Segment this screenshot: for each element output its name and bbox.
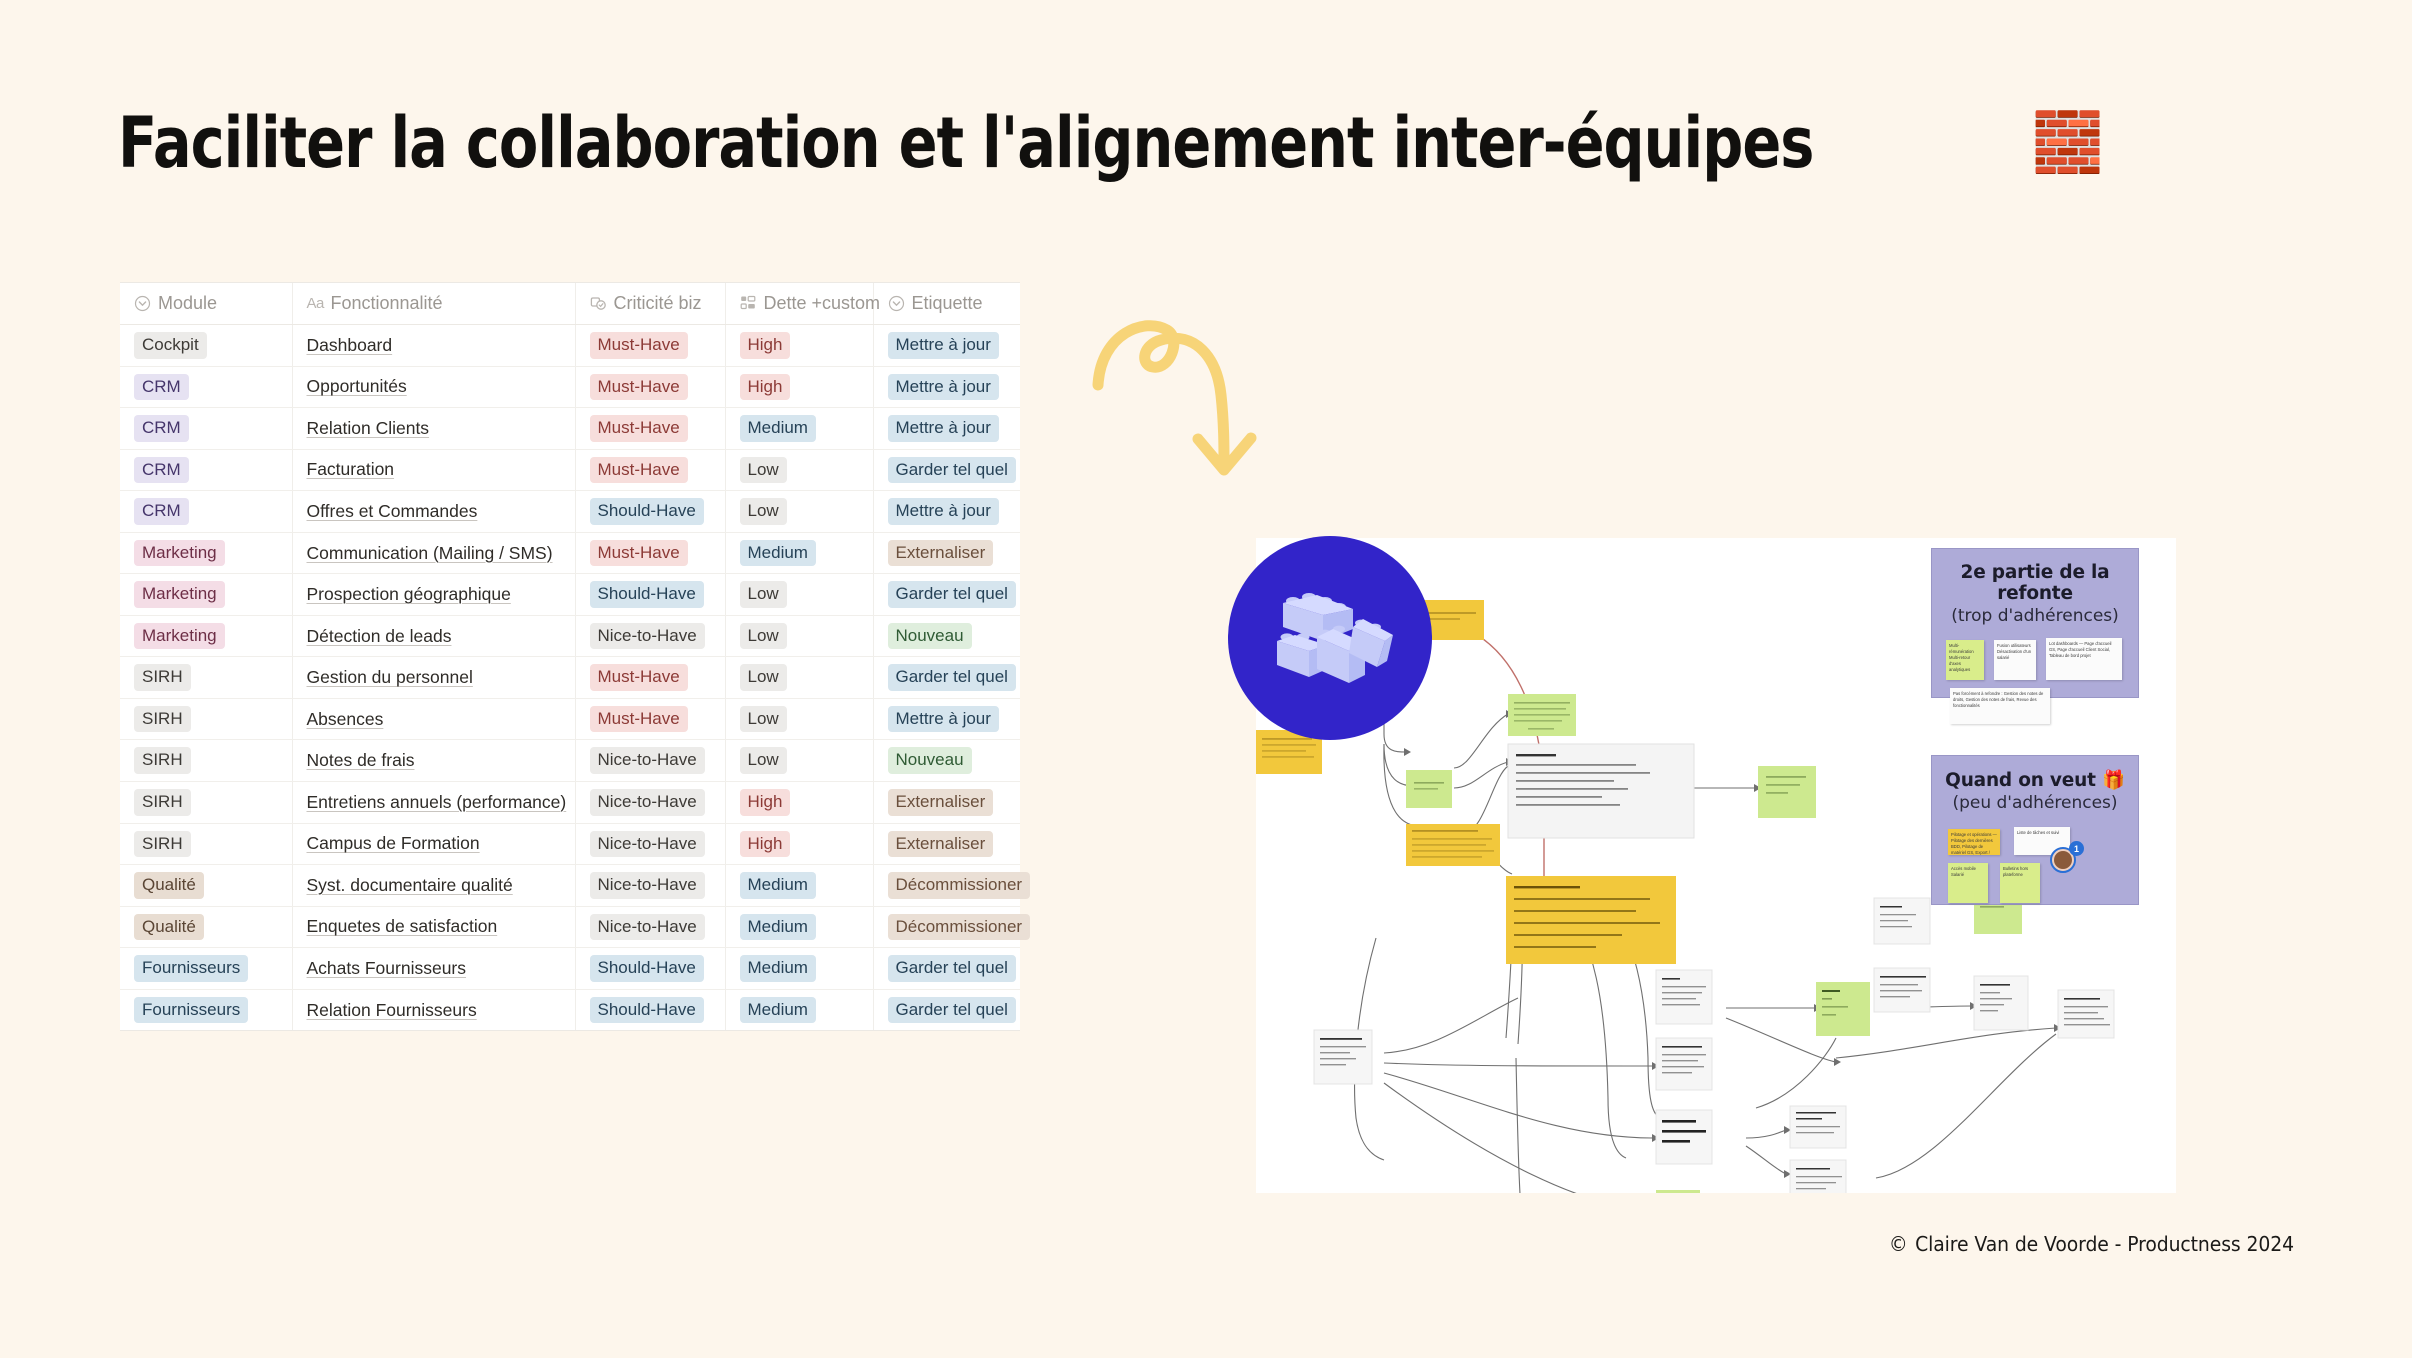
table-row[interactable]: FournisseursAchats FournisseursShould-Ha… [120,948,1020,990]
criticite-cell[interactable]: Nice-to-Have [575,782,725,824]
dette-value: Low [740,457,787,484]
module-cell[interactable]: CRM [120,366,292,408]
legend-card-2e-partie: 2e partie de la refonte (trop d'adhérenc… [1931,548,2139,698]
module-cell[interactable]: Marketing [120,615,292,657]
fonctionnalite-cell[interactable]: Entretiens annuels (performance) [292,782,575,824]
dette-cell[interactable]: Low [725,574,873,616]
etiquette-value: Mettre à jour [888,498,999,525]
module-cell[interactable]: SIRH [120,740,292,782]
fonctionnalite-value: Facturation [307,459,395,479]
etiquette-value: Décommissioner [888,872,1031,899]
fonctionnalite-value: Dashboard [307,335,393,355]
criticite-value: Nice-to-Have [590,914,705,941]
fonctionnalite-cell[interactable]: Opportunités [292,366,575,408]
etiquette-cell[interactable]: Mettre à jour [873,491,1020,533]
module-value: Qualité [134,914,204,941]
etiquette-cell[interactable]: Mettre à jour [873,366,1020,408]
criticite-value: Should-Have [590,498,704,525]
module-cell[interactable]: SIRH [120,657,292,699]
criticite-cell[interactable]: Nice-to-Have [575,823,725,865]
etiquette-value: Garder tel quel [888,997,1016,1024]
fonctionnalite-value: Opportunités [307,376,407,396]
etiquette-cell[interactable]: Garder tel quel [873,449,1020,491]
table-row[interactable]: MarketingCommunication (Mailing / SMS)Mu… [120,532,1020,574]
etiquette-value: Garder tel quel [888,955,1016,982]
column-header-dette[interactable]: Dette +custom [725,283,873,325]
dette-cell[interactable]: Medium [725,408,873,450]
table-row[interactable]: SIRHAbsencesMust-HaveLowMettre à jour [120,698,1020,740]
column-header-dette-label: Dette +custom [764,293,881,314]
dette-value: Low [740,747,787,774]
criticite-cell[interactable]: Should-Have [575,491,725,533]
column-header-criticite[interactable]: Criticité biz [575,283,725,325]
module-value: SIRH [134,706,191,733]
criticite-value: Must-Have [590,664,688,691]
module-value: SIRH [134,747,191,774]
dette-cell[interactable]: Low [725,698,873,740]
copyright-icon: © [1889,1232,1908,1256]
table-row[interactable]: CRMFacturationMust-HaveLowGarder tel que… [120,449,1020,491]
dette-value: Low [740,664,787,691]
dette-value: High [740,831,791,858]
dette-value: High [740,374,791,401]
etiquette-value: Mettre à jour [888,332,999,359]
etiquette-cell[interactable]: Externaliser [873,532,1020,574]
fonctionnalite-value: Prospection géographique [307,584,511,604]
table-row[interactable]: CRMOpportunitésMust-HaveHighMettre à jou… [120,366,1020,408]
table-header-row: Module Aa Fonctionnalité [120,283,1020,325]
table-row[interactable]: QualitéEnquetes de satisfactionNice-to-H… [120,906,1020,948]
etiquette-value: Garder tel quel [888,457,1016,484]
legend-note: Fusion utilisateurs Désactivation d'un s… [1994,640,2036,680]
fonctionnalite-cell[interactable]: Achats Fournisseurs [292,948,575,990]
fonctionnalite-cell[interactable]: Absences [292,698,575,740]
legend-note: Bulletins hors plateforme [2000,863,2040,903]
etiquette-cell[interactable]: Décommissioner [873,865,1020,907]
dette-value: Medium [740,914,816,941]
dette-cell[interactable]: High [725,366,873,408]
module-value: CRM [134,415,189,442]
module-cell[interactable]: CRM [120,449,292,491]
avatar-count-badge: 1 [2069,841,2084,856]
fonctionnalite-cell[interactable]: Dashboard [292,325,575,367]
legend-note: Pilotage et opérations — Pilotage des de… [1948,829,2000,855]
multi-select-icon [740,295,757,312]
circle-chevron-down-icon [888,295,905,312]
legend-note: Pas forcément à refondre : Gestion des n… [1950,688,2050,724]
module-value: Marketing [134,581,225,608]
criticite-cell[interactable]: Should-Have [575,989,725,1030]
legend-notes: Multi-rémunération Multi-retour d'axes a… [1932,634,2138,720]
table-row[interactable]: CRMRelation ClientsMust-HaveMediumMettre… [120,408,1020,450]
etiquette-cell[interactable]: Externaliser [873,823,1020,865]
lego-bricks-badge [1228,536,1432,740]
etiquette-value: Externaliser [888,831,994,858]
dette-value: Medium [740,997,816,1024]
legend-note: Multi-rémunération Multi-retour d'axes a… [1946,640,1984,680]
column-header-etiquette[interactable]: Etiquette [873,283,1020,325]
column-header-fonctionnalite-label: Fonctionnalité [331,293,443,314]
module-cell[interactable]: Cockpit [120,325,292,367]
dette-cell[interactable]: Low [725,491,873,533]
dette-value: Low [740,623,787,650]
criticite-cell[interactable]: Nice-to-Have [575,740,725,782]
fonctionnalite-value: Détection de leads [307,626,452,646]
fonctionnalite-cell[interactable]: Syst. documentaire qualité [292,865,575,907]
module-cell[interactable]: SIRH [120,698,292,740]
table-row[interactable]: MarketingDétection de leadsNice-to-HaveL… [120,615,1020,657]
footer-copyright: © Claire Van de Voorde - Productness 202… [1889,1232,2294,1256]
dette-cell[interactable]: High [725,823,873,865]
legend-notes: Pilotage et opérations — Pilotage des de… [1932,821,2138,907]
dette-cell[interactable]: High [725,325,873,367]
dette-cell[interactable]: Low [725,615,873,657]
fonctionnalite-value: Communication (Mailing / SMS) [307,543,553,563]
page-title: Faciliter la collaboration et l'aligneme… [118,108,2104,178]
criticite-cell[interactable]: Must-Have [575,698,725,740]
criticite-value: Must-Have [590,540,688,567]
criticite-value: Should-Have [590,581,704,608]
criticite-cell[interactable]: Should-Have [575,948,725,990]
dette-value: Medium [740,955,816,982]
etiquette-value: Nouveau [888,623,972,650]
fonctionnalite-value: Achats Fournisseurs [307,958,467,978]
fonctionnalite-cell[interactable]: Facturation [292,449,575,491]
module-value: Fournisseurs [134,997,248,1024]
etiquette-cell[interactable]: Nouveau [873,740,1020,782]
dette-value: Low [740,581,787,608]
module-cell[interactable]: Qualité [120,906,292,948]
dette-value: Low [740,706,787,733]
module-cell[interactable]: SIRH [120,823,292,865]
fonctionnalite-value: Gestion du personnel [307,667,473,687]
etiquette-value: Mettre à jour [888,415,999,442]
criticite-cell[interactable]: Nice-to-Have [575,615,725,657]
criticite-cell[interactable]: Nice-to-Have [575,906,725,948]
fonctionnalite-cell[interactable]: Gestion du personnel [292,657,575,699]
feature-priority-table: Module Aa Fonctionnalité [120,282,1020,1031]
etiquette-value: Garder tel quel [888,581,1016,608]
etiquette-cell[interactable]: Garder tel quel [873,574,1020,616]
dette-cell[interactable]: High [725,782,873,824]
legend-card-quand-on-veut: Quand on veut 🎁 (peu d'adhérences) Pilot… [1931,755,2139,905]
criticite-cell[interactable]: Must-Have [575,449,725,491]
criticite-value: Nice-to-Have [590,831,705,858]
dette-cell[interactable]: Medium [725,989,873,1030]
module-value: Marketing [134,623,225,650]
table-row[interactable]: SIRHNotes de fraisNice-to-HaveLowNouveau [120,740,1020,782]
criticite-cell[interactable]: Must-Have [575,408,725,450]
etiquette-cell[interactable]: Garder tel quel [873,989,1020,1030]
module-value: Marketing [134,540,225,567]
etiquette-cell[interactable]: Mettre à jour [873,408,1020,450]
module-cell[interactable]: Marketing [120,532,292,574]
criticite-value: Nice-to-Have [590,747,705,774]
page-title-text: Faciliter la collaboration et l'aligneme… [118,108,1813,178]
criticite-value: Nice-to-Have [590,789,705,816]
dette-value: Medium [740,415,816,442]
criticite-value: Should-Have [590,997,704,1024]
etiquette-value: Externaliser [888,540,994,567]
module-value: Cockpit [134,332,207,359]
fonctionnalite-value: Offres et Commandes [307,501,478,521]
fonctionnalite-cell[interactable]: Détection de leads [292,615,575,657]
legend-subtitle: (trop d'adhérences) [1932,606,2138,626]
fonctionnalite-cell[interactable]: Relation Fournisseurs [292,989,575,1030]
module-cell[interactable]: Fournisseurs [120,989,292,1030]
fonctionnalite-cell[interactable]: Enquetes de satisfaction [292,906,575,948]
module-cell[interactable]: CRM [120,491,292,533]
legend-title: Quand on veut 🎁 [1932,769,2138,791]
legend-note: Accès mobile Salarié [1948,863,1988,903]
table-row[interactable]: SIRHGestion du personnelMust-HaveLowGard… [120,657,1020,699]
etiquette-cell[interactable]: Mettre à jour [873,325,1020,367]
module-cell[interactable]: SIRH [120,782,292,824]
footer-text: Claire Van de Voorde - Productness 2024 [1915,1232,2294,1256]
etiquette-cell[interactable]: Mettre à jour [873,698,1020,740]
column-header-criticite-label: Criticité biz [614,293,702,314]
fonctionnalite-value: Relation Fournisseurs [307,1000,477,1020]
etiquette-value: Mettre à jour [888,374,999,401]
criticite-value: Must-Have [590,374,688,401]
etiquette-cell[interactable]: Décommissioner [873,906,1020,948]
lego-bricks-icon [1265,585,1395,691]
fonctionnalite-cell[interactable]: Campus de Formation [292,823,575,865]
dette-cell[interactable]: Medium [725,865,873,907]
dette-value: High [740,789,791,816]
criticite-value: Must-Have [590,457,688,484]
fonctionnalite-value: Notes de frais [307,750,415,770]
etiquette-cell[interactable]: Garder tel quel [873,657,1020,699]
table-row[interactable]: CRMOffres et CommandesShould-HaveLowMett… [120,491,1020,533]
legend-subtitle: (peu d'adhérences) [1932,793,2138,813]
etiquette-cell[interactable]: Externaliser [873,782,1020,824]
etiquette-cell[interactable]: Nouveau [873,615,1020,657]
circle-chevron-down-icon [134,295,151,312]
module-value: Qualité [134,872,204,899]
module-cell[interactable]: Fournisseurs [120,948,292,990]
bricks-emoji-icon: 🧱 [2032,114,2104,172]
aa-text-icon: Aa [307,295,324,312]
table-row[interactable]: SIRHCampus de FormationNice-to-HaveHighE… [120,823,1020,865]
fonctionnalite-value: Absences [307,709,384,729]
avatar-face-icon [2054,851,2072,869]
module-value: SIRH [134,664,191,691]
module-value: SIRH [134,789,191,816]
etiquette-value: Nouveau [888,747,972,774]
dette-cell[interactable]: Medium [725,532,873,574]
criticite-value: Should-Have [590,955,704,982]
column-header-module-label: Module [158,293,217,314]
fonctionnalite-cell[interactable]: Offres et Commandes [292,491,575,533]
table-row[interactable]: SIRHEntretiens annuels (performance)Nice… [120,782,1020,824]
module-value: CRM [134,457,189,484]
fonctionnalite-cell[interactable]: Notes de frais [292,740,575,782]
criticite-value: Must-Have [590,415,688,442]
criticite-cell[interactable]: Should-Have [575,574,725,616]
dette-value: Medium [740,872,816,899]
column-header-fonctionnalite[interactable]: Aa Fonctionnalité [292,283,575,325]
select-icon [590,295,607,312]
etiquette-value: Mettre à jour [888,706,999,733]
module-cell[interactable]: Marketing [120,574,292,616]
dette-cell[interactable]: Low [725,740,873,782]
criticite-cell[interactable]: Must-Have [575,657,725,699]
dette-cell[interactable]: Low [725,449,873,491]
table-row[interactable]: CockpitDashboardMust-HaveHighMettre à jo… [120,325,1020,367]
criticite-value: Must-Have [590,706,688,733]
criticite-value: Nice-to-Have [590,623,705,650]
table-row[interactable]: FournisseursRelation FournisseursShould-… [120,989,1020,1030]
slide-root: Faciliter la collaboration et l'aligneme… [0,0,2412,1358]
curved-looping-arrow-icon [1085,295,1355,495]
etiquette-value: Externaliser [888,789,994,816]
dette-cell[interactable]: Medium [725,948,873,990]
criticite-value: Must-Have [590,332,688,359]
dette-value: Medium [740,540,816,567]
fonctionnalite-value: Campus de Formation [307,833,480,853]
module-value: SIRH [134,831,191,858]
criticite-cell[interactable]: Must-Have [575,366,725,408]
criticite-cell[interactable]: Must-Have [575,532,725,574]
fonctionnalite-cell[interactable]: Relation Clients [292,408,575,450]
etiquette-value: Garder tel quel [888,664,1016,691]
module-value: CRM [134,498,189,525]
fonctionnalite-cell[interactable]: Communication (Mailing / SMS) [292,532,575,574]
criticite-value: Nice-to-Have [590,872,705,899]
etiquette-cell[interactable]: Garder tel quel [873,948,1020,990]
table-row[interactable]: QualitéSyst. documentaire qualitéNice-to… [120,865,1020,907]
module-cell[interactable]: Qualité [120,865,292,907]
fonctionnalite-value: Syst. documentaire qualité [307,875,513,895]
dette-value: Low [740,498,787,525]
dette-cell[interactable]: Medium [725,906,873,948]
fonctionnalite-value: Entretiens annuels (performance) [307,792,567,812]
criticite-cell[interactable]: Nice-to-Have [575,865,725,907]
table-row[interactable]: MarketingProspection géographiqueShould-… [120,574,1020,616]
fonctionnalite-cell[interactable]: Prospection géographique [292,574,575,616]
dette-cell[interactable]: Low [725,657,873,699]
module-value: Fournisseurs [134,955,248,982]
criticite-cell[interactable]: Must-Have [575,325,725,367]
legend-title: 2e partie de la refonte [1932,562,2138,604]
column-header-etiquette-label: Etiquette [912,293,983,314]
etiquette-value: Décommissioner [888,914,1031,941]
column-header-module[interactable]: Module [120,283,292,325]
fonctionnalite-value: Relation Clients [307,418,430,438]
dette-value: High [740,332,791,359]
module-cell[interactable]: CRM [120,408,292,450]
fonctionnalite-value: Enquetes de satisfaction [307,916,498,936]
legend-note: Lot dashboards — Page d'accueil GS, Page… [2046,638,2122,680]
module-value: CRM [134,374,189,401]
